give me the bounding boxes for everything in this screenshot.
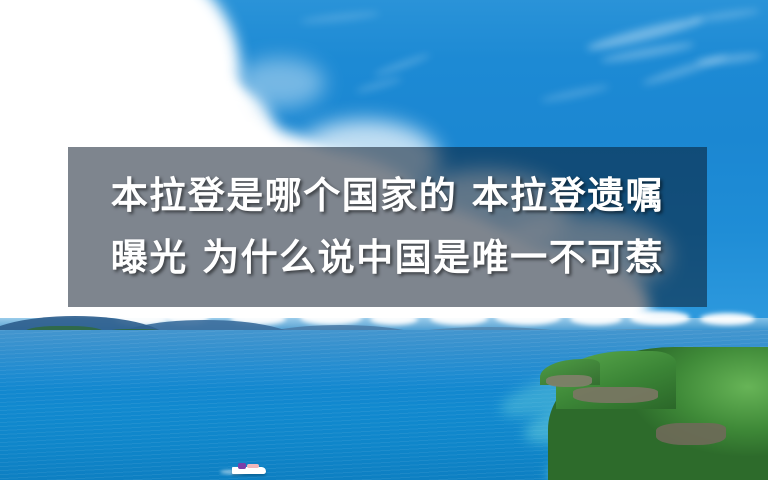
article-thumbnail-image: 本拉登是哪个国家的 本拉登遗嘱 曝光 为什么说中国是唯一不可惹: [0, 0, 768, 480]
horizon-cloud: [370, 313, 418, 325]
horizon-cloud: [700, 313, 755, 325]
cumulus-cloud-soft: [235, 58, 325, 108]
boat-hull: [232, 467, 266, 474]
horizon-cloud: [300, 310, 362, 325]
rock-cliff: [546, 375, 592, 387]
motorboat: [232, 462, 266, 474]
headline-line-1: 本拉登是哪个国家的 本拉登遗嘱: [111, 165, 664, 227]
headline-line-2: 曝光 为什么说中国是唯一不可惹: [111, 227, 664, 289]
horizon-cloud: [570, 312, 622, 325]
horizon-cloud: [630, 311, 690, 325]
boat-cabin: [238, 463, 246, 469]
headline-overlay-panel: 本拉登是哪个国家的 本拉登遗嘱 曝光 为什么说中国是唯一不可惹: [68, 147, 707, 307]
headline-text: 本拉登是哪个国家的 本拉登遗嘱 曝光 为什么说中国是唯一不可惹: [111, 165, 664, 289]
horizon-cloud: [495, 309, 561, 325]
rock-cliff: [656, 423, 726, 445]
boat-deck: [247, 464, 259, 468]
rock-cliff: [573, 387, 658, 403]
headland: [518, 335, 768, 480]
horizon-cloud: [430, 311, 488, 325]
